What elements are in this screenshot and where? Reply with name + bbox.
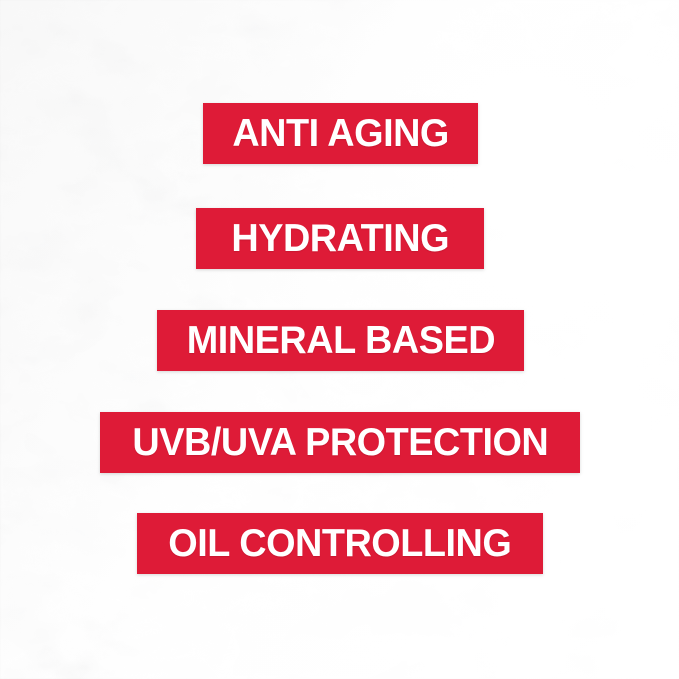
- benefit-bar-anti-aging: ANTI AGING: [203, 103, 478, 164]
- benefit-bar-mineral-based: MINERAL BASED: [157, 310, 524, 371]
- benefit-bar-stack: ANTI AGING HYDRATING MINERAL BASED UVB/U…: [0, 0, 679, 679]
- graphic-canvas: ANTI AGING HYDRATING MINERAL BASED UVB/U…: [0, 0, 679, 679]
- benefit-bar-hydrating-label: HYDRATING: [231, 219, 449, 258]
- benefit-bar-uvb-uva-protection-label: UVB/UVA PROTECTION: [132, 423, 548, 462]
- benefit-bar-mineral-based-label: MINERAL BASED: [186, 321, 494, 360]
- benefit-bar-uvb-uva-protection: UVB/UVA PROTECTION: [100, 412, 580, 473]
- benefit-bar-oil-controlling-label: OIL CONTROLLING: [169, 524, 512, 563]
- benefit-bar-anti-aging-label: ANTI AGING: [232, 114, 449, 153]
- benefit-bar-oil-controlling: OIL CONTROLLING: [137, 513, 543, 574]
- benefit-bar-hydrating: HYDRATING: [196, 208, 484, 269]
